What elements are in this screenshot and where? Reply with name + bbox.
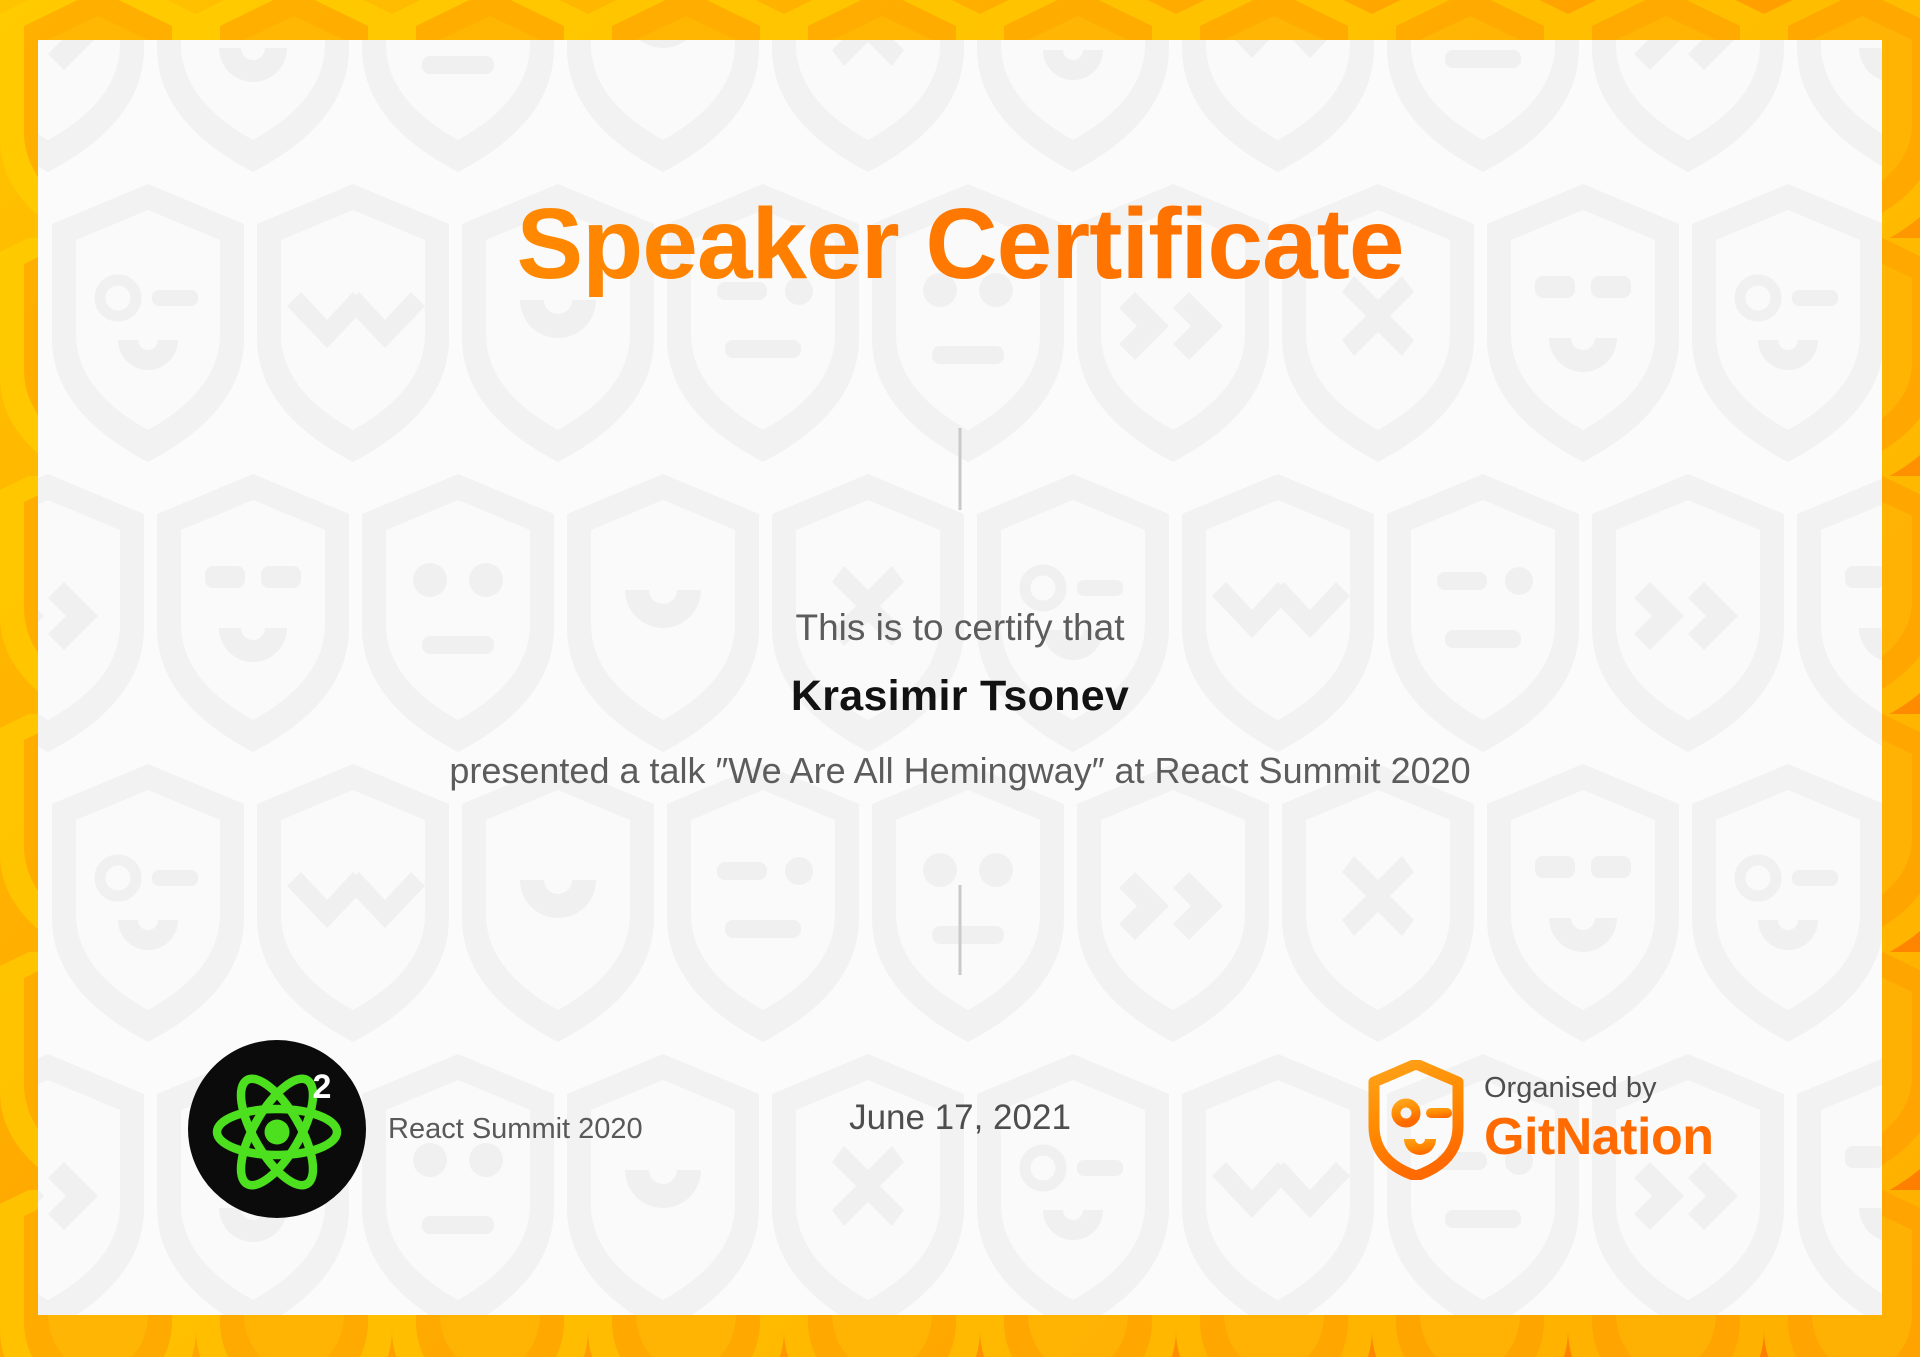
organiser-name: GitNation — [1484, 1109, 1713, 1166]
organised-by-label: Organised by — [1484, 1073, 1713, 1105]
gitnation-eye-dash — [1426, 1108, 1452, 1118]
divider-bottom — [959, 885, 962, 975]
talk-description: presented a talk ″We Are All Hemingway″ … — [38, 750, 1882, 792]
divider-top — [959, 428, 962, 510]
certificate-root: Speaker Certificate This is to certify t… — [0, 0, 1920, 1357]
gitnation-shield-icon — [1368, 1060, 1464, 1180]
gitnation-eye-circle — [1396, 1103, 1416, 1123]
recipient-name: Krasimir Tsonev — [38, 672, 1882, 721]
organiser-branding: Organised by GitNation — [1368, 1060, 1713, 1180]
certificate-card: Speaker Certificate This is to certify t… — [38, 40, 1882, 1315]
certify-line: This is to certify that — [38, 607, 1882, 649]
page-title: Speaker Certificate — [38, 192, 1882, 297]
gitnation-smile — [1404, 1139, 1436, 1155]
